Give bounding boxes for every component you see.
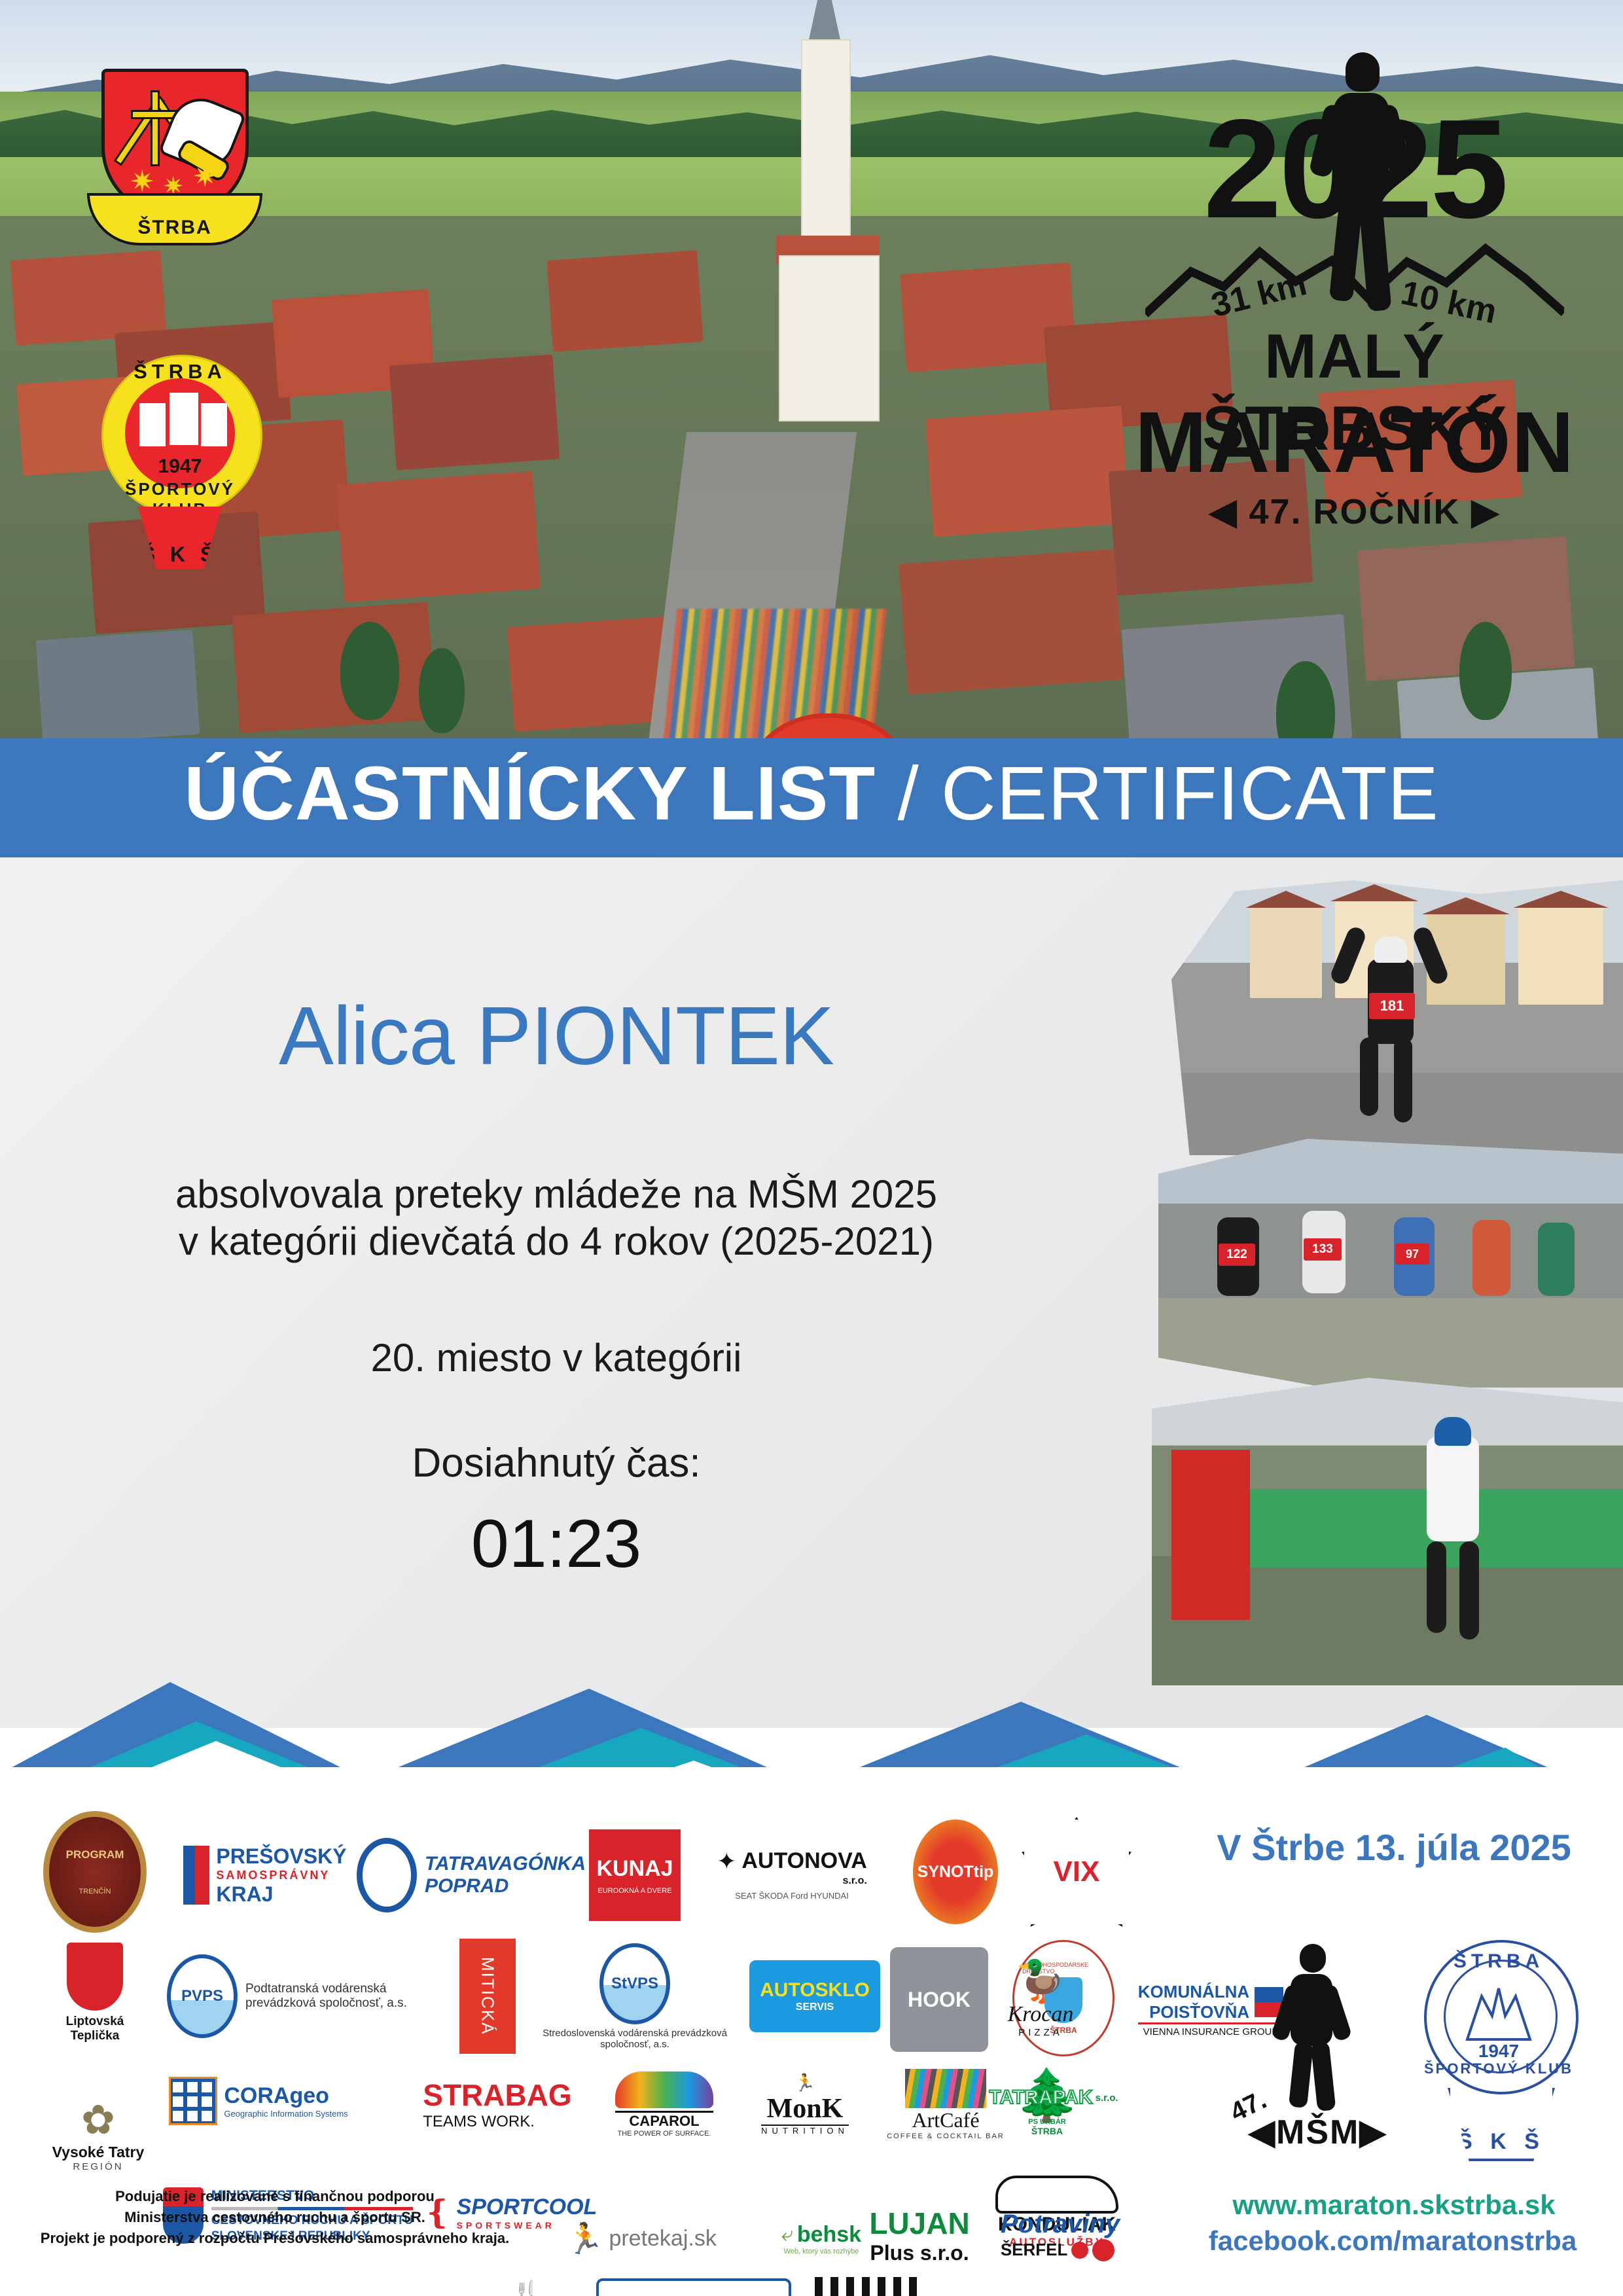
race-edition-label: 47. ROČNÍK xyxy=(1249,492,1460,531)
sponsor-name: behsk xyxy=(797,2222,861,2248)
coat-banner-label: ŠTRBA xyxy=(137,217,211,243)
statement-line-1: absolvovala preteky mládeže na MŠM 2025 xyxy=(0,1172,1113,1217)
sponsor-autonova[interactable]: ✦ AUTONOVA s.r.o. SEAT ŠKODA Ford HYUNDA… xyxy=(694,1825,890,1923)
sponsor-sub: Geographic Information Systems xyxy=(224,2109,348,2119)
sponsor-sub: POPRAD xyxy=(425,1875,586,1897)
time-label: Dosiahnutý čas: xyxy=(0,1440,1113,1486)
race-year: 2025 xyxy=(1126,98,1584,239)
sponsor-presovsky-kraj[interactable]: PREŠOVSKÝ SAMOSPRÁVNY KRAJ xyxy=(164,1833,366,1918)
certificate-banner: ÚČASTNÍCKY LIST / CERTIFICATE xyxy=(0,738,1623,859)
psk-flame-icon xyxy=(183,1846,209,1905)
facebook-link[interactable]: facebook.com/maratonstrba xyxy=(1177,2225,1609,2257)
stamp-peaks-icon xyxy=(1462,1982,1535,2041)
sponsor-tatrapak[interactable]: TATRAPAK s.r.o. xyxy=(975,2055,1132,2140)
sponsor-pvps[interactable]: PVPS Podtatranská vodárenská prevádzková… xyxy=(157,1950,438,2042)
banner-title-bold: ÚČASTNÍCKY LIST xyxy=(184,751,876,836)
sponsor-sub: PIZZA xyxy=(1008,2027,1074,2038)
sponsor-name: AUTOSKLO xyxy=(760,1979,870,2001)
runner-bib-3: 97 xyxy=(1395,1244,1429,1265)
coat-banner: ŠTRBA xyxy=(87,193,262,245)
event-date: V Štrbe 13. júla 2025 xyxy=(1185,1826,1603,1869)
finish-line-photo xyxy=(1152,1378,1623,1685)
cutlery-icon: 🍴 xyxy=(483,2279,571,2296)
sponsor-sub: EUROOKNÁ A DVERE xyxy=(597,1887,671,1895)
msm-runner-icon xyxy=(1276,1944,1348,2108)
sponsor-name: TATRAPAK xyxy=(989,2087,1092,2109)
serfel-dot-icon xyxy=(1071,2242,1088,2259)
sponsor-sub: SERVIS xyxy=(796,2001,834,2013)
sponsor-corageo[interactable]: CORAgeo Geographic Information Systems xyxy=(154,2058,363,2144)
banner-title-light: / CERTIFICATE xyxy=(876,751,1438,836)
sponsor-liptovska-teplicka[interactable]: Liptovská Teplička xyxy=(33,1937,157,2049)
sponsor-vysoke-tatry[interactable]: ✿ Vysoké Tatry REGIÓN xyxy=(33,2068,164,2199)
sponsor-sub: REGIÓN xyxy=(52,2161,145,2172)
monk-runner-icon: 🏃 xyxy=(761,2073,849,2093)
sponsor-name: Potraviny xyxy=(1001,2210,1120,2239)
caparol-elephant-icon xyxy=(615,2072,713,2108)
sponsor-caparol[interactable]: CAPAROL THE POWER OF SURFACE. xyxy=(596,2058,733,2150)
sponsor-name: LUJAN xyxy=(869,2206,969,2241)
tatravagonka-icon xyxy=(357,1838,417,1912)
sponsor-sub: s.r.o. xyxy=(1096,2092,1118,2104)
sks-stamp: ŠTRBA 1947 ŠPORTOVÝ KLUB Š K Š xyxy=(1414,1931,1584,2160)
sponsor-mid: SAMOSPRÁVNY xyxy=(216,1869,346,1882)
cross-vertical-icon xyxy=(151,90,160,166)
sponsor-name: AUTONOVA xyxy=(741,1848,866,1874)
sponsor-synottip[interactable]: SYNOTtip xyxy=(897,1820,1014,1924)
folk-costume xyxy=(1171,1450,1250,1620)
sponsor-name: MITICKÁ xyxy=(478,1957,498,2035)
race-logo: 2025 31 km 10 km MALÝ ŠTRBSKÝ MARATÓN ◀ … xyxy=(1126,39,1584,589)
runner-bib-2: 133 xyxy=(1304,1238,1342,1261)
sponsor-name: VIX xyxy=(1054,1856,1100,1888)
star-icon-3: ✷ xyxy=(192,158,218,194)
club-year: 1947 xyxy=(125,456,235,478)
website-link[interactable]: www.maraton.skstrba.sk xyxy=(1185,2189,1603,2221)
runner-bib-1: 122 xyxy=(1219,1244,1255,1266)
msm-abbr: ◀MŠM▶ xyxy=(1249,2113,1387,2152)
sponsor-sub: THE POWER OF SURFACE. xyxy=(615,2130,713,2138)
placement-text: 20. miesto v kategórii xyxy=(0,1335,1113,1380)
stamp-year: 1947 xyxy=(1414,2041,1584,2062)
photo-collage: 181 122 133 97 xyxy=(1152,880,1623,1698)
sponsor-sub: NUTRITION xyxy=(761,2125,849,2136)
sponsor-name: PVPS xyxy=(181,1987,223,2005)
sponsor-sub: TRENČÍN xyxy=(79,1888,111,1895)
sponsor-name: noow xyxy=(976,2291,1065,2296)
msm-abbr-label: MŠM xyxy=(1276,2113,1359,2151)
sks-club-logo: ŠTRBA 1947 ŠPORTOVÝ KLUB Š K Š xyxy=(101,340,259,569)
stamp-tail: Š K Š xyxy=(1448,2088,1555,2161)
race-title-line2: MARATÓN xyxy=(1126,393,1584,492)
support-line-2: Ministerstva cestovného ruchu a športu S… xyxy=(39,2207,510,2228)
club-tail: Š K Š xyxy=(138,507,222,569)
sponsor-name: StVPS xyxy=(611,1975,658,1993)
sponsor-potraviny-serfel[interactable]: Potraviny ŠERFEL xyxy=(975,2193,1145,2278)
corageo-grid-icon xyxy=(169,2077,217,2125)
sponsor-name: PROGRAM xyxy=(66,1848,124,1861)
finisher-bib: 181 xyxy=(1369,993,1415,1019)
sponsor-sub: Web, ktorý vás rozhýbe xyxy=(781,2248,861,2255)
sponsor-name: KUNAJ xyxy=(596,1856,673,1882)
sponsor-kunaj[interactable]: KUNAJ EUROOKNÁ A DVERE xyxy=(582,1826,687,1924)
runner-arc-icon: ⤶ xyxy=(781,2222,793,2247)
participant-name: Alica PIONTEK xyxy=(0,988,1113,1083)
edelweiss-icon: ✿ xyxy=(52,2096,145,2144)
sponsor-sub: Teplička xyxy=(66,2029,124,2043)
support-line-3: Projekt je podporený z rozpočtu Prešovsk… xyxy=(39,2228,510,2249)
sponsor-miticka[interactable]: MITICKÁ xyxy=(445,1937,530,2055)
sponsor-sub: Podtatranská vodárenská prevádzková spol… xyxy=(245,1982,429,2011)
turkey-icon: 🦆 xyxy=(1008,1962,1074,2002)
sponsor-name: CAPAROL xyxy=(615,2111,713,2130)
church-body xyxy=(779,255,880,422)
sponsor-name: SYNOTtip xyxy=(918,1863,994,1882)
artcafe-stripes-icon xyxy=(905,2069,986,2108)
sponsor-vix[interactable]: VIX xyxy=(1021,1820,1132,1924)
sponsor-sub: ŠERFEL xyxy=(1001,2240,1068,2260)
club-peaks-icon xyxy=(135,391,227,457)
sponsor-name: STRABAG xyxy=(423,2077,571,2113)
sponsor-monk[interactable]: 🏃 MonK NUTRITION xyxy=(733,2058,877,2150)
statement-line-2: v kategórii dievčatá do 4 rokov (2025-20… xyxy=(0,1219,1113,1264)
sponsor-brands: SEAT ŠKODA Ford HYUNDAI xyxy=(717,1891,867,1901)
sponsor-name: Vysoké Tatry xyxy=(52,2144,145,2161)
sponsor-name: MonK xyxy=(761,2093,849,2125)
sponsor-tatravagonka[interactable]: TATRAVAGÓNKA POPRAD xyxy=(373,1833,569,1918)
sponsor-sub: Plus s.r.o. xyxy=(869,2241,969,2265)
burst-icon: ✦ xyxy=(717,1848,736,1875)
sponsor-program-trencin[interactable]: PROGRAM TRENČÍN xyxy=(33,1820,157,1924)
sponsor-name: CORAgeo xyxy=(224,2083,348,2109)
support-text: Podujatie je realizované s finančnou pod… xyxy=(39,2186,510,2249)
sponsor-name: HOOK xyxy=(908,1988,971,2012)
club-abbr: Š K Š xyxy=(141,543,219,569)
sponsor-name: TATRAVAGÓNKA xyxy=(425,1853,586,1875)
serfel-dot2-icon xyxy=(1092,2239,1115,2261)
sponsor-lujan[interactable]: LUJAN Plus s.r.o. xyxy=(857,2189,982,2281)
finisher-photo: 181 xyxy=(1171,880,1623,1155)
mountain-outline-icon xyxy=(1145,236,1564,321)
crest-icon xyxy=(67,1943,123,2011)
stamp-bottom-label: ŠPORTOVÝ KLUB xyxy=(1414,2060,1584,2077)
stamp-top-label: ŠTRBA xyxy=(1414,1950,1584,1973)
runners-icon: 🏃 xyxy=(566,2221,603,2257)
sponsor-name: Liptovská xyxy=(66,2015,124,2029)
certificate-page: ✷ ✷ ✷ ŠTRBA ŠTRBA 1947 ŠPORTOVÝ KLUB Š K… xyxy=(0,0,1623,2296)
sponsor-krocan-pizza[interactable]: 🦆 Krocan PIZZA xyxy=(975,1941,1106,2058)
sponsor-sub: TEAMS WORK. xyxy=(423,2113,571,2131)
time-value: 01:23 xyxy=(0,1505,1113,1583)
sponsor-sub: s.r.o. xyxy=(717,1875,867,1887)
strba-coat-of-arms: ✷ ✷ ✷ ŠTRBA xyxy=(101,69,242,239)
stamp-abbr: Š K Š xyxy=(1457,2129,1545,2159)
sponsor-sub: Stredoslovenská vodárenská prevádzková s… xyxy=(530,2028,740,2050)
sponsor-pretekaj[interactable]: 🏃 pretekaj.sk xyxy=(550,2199,733,2278)
msm-logo: 47. ◀MŠM▶ xyxy=(1230,1937,1381,2153)
sponsor-autosklo[interactable]: AUTOSKLO SERVIS xyxy=(746,1954,883,2039)
church xyxy=(785,39,864,380)
sponsor-name: Krocan xyxy=(1008,2002,1074,2027)
banner-title: ÚČASTNÍCKY LIST / CERTIFICATE xyxy=(0,755,1623,831)
support-line-1: Podujatie je realizované s finančnou pod… xyxy=(39,2186,510,2207)
sponsor-name: PREŠOVSKÝ xyxy=(216,1844,346,1869)
sponsor-stvps[interactable]: StVPS Stredoslovenská vodárenská prevádz… xyxy=(530,1944,740,2049)
sponsor-name: pretekaj.sk xyxy=(609,2226,716,2251)
runner-head xyxy=(1346,52,1380,92)
trees xyxy=(0,583,1623,740)
sponsor-strabag[interactable]: STRABAG TEAMS WORK. xyxy=(406,2062,589,2147)
runners-photo: 122 133 97 xyxy=(1158,1139,1623,1388)
race-edition: ◀ 47. ROČNÍK ▶ xyxy=(1126,491,1584,532)
sponsor-sub: KRAJ xyxy=(216,1882,346,1907)
